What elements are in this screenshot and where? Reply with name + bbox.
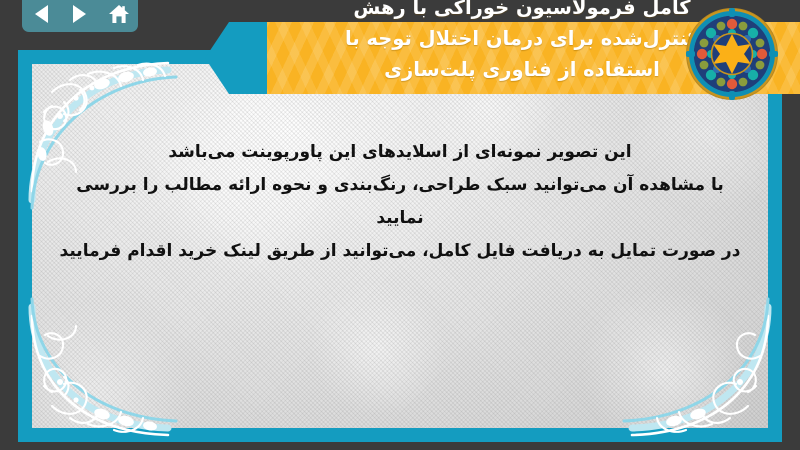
slide-viewer: این تصویر نمونه‌ای از اسلایدهای این پاور…	[0, 0, 800, 450]
navigation-bar	[22, 0, 138, 32]
home-button[interactable]	[106, 2, 132, 26]
next-slide-button[interactable]	[67, 2, 93, 26]
medallion-ornament-icon	[684, 6, 780, 102]
banner-tail	[205, 22, 267, 94]
slide-body-line-3: در صورت تمایل به دریافت فایل کامل، می‌تو…	[58, 235, 742, 268]
triangle-right-icon	[73, 5, 86, 23]
filigree-corner-bottom-left-icon	[18, 292, 203, 442]
slide-body-text: این تصویر نمونه‌ای از اسلایدهای این پاور…	[58, 136, 742, 268]
slide-frame: این تصویر نمونه‌ای از اسلایدهای این پاور…	[18, 50, 782, 442]
slide-body-line-2: با مشاهده آن می‌توانید سبک طراحی، رنگ‌بن…	[58, 169, 742, 235]
prev-slide-button[interactable]	[28, 2, 54, 26]
filigree-corner-bottom-right-icon	[597, 292, 782, 442]
triangle-left-icon	[35, 5, 48, 23]
slide-body-line-1: این تصویر نمونه‌ای از اسلایدهای این پاور…	[58, 136, 742, 169]
home-icon	[108, 4, 130, 24]
